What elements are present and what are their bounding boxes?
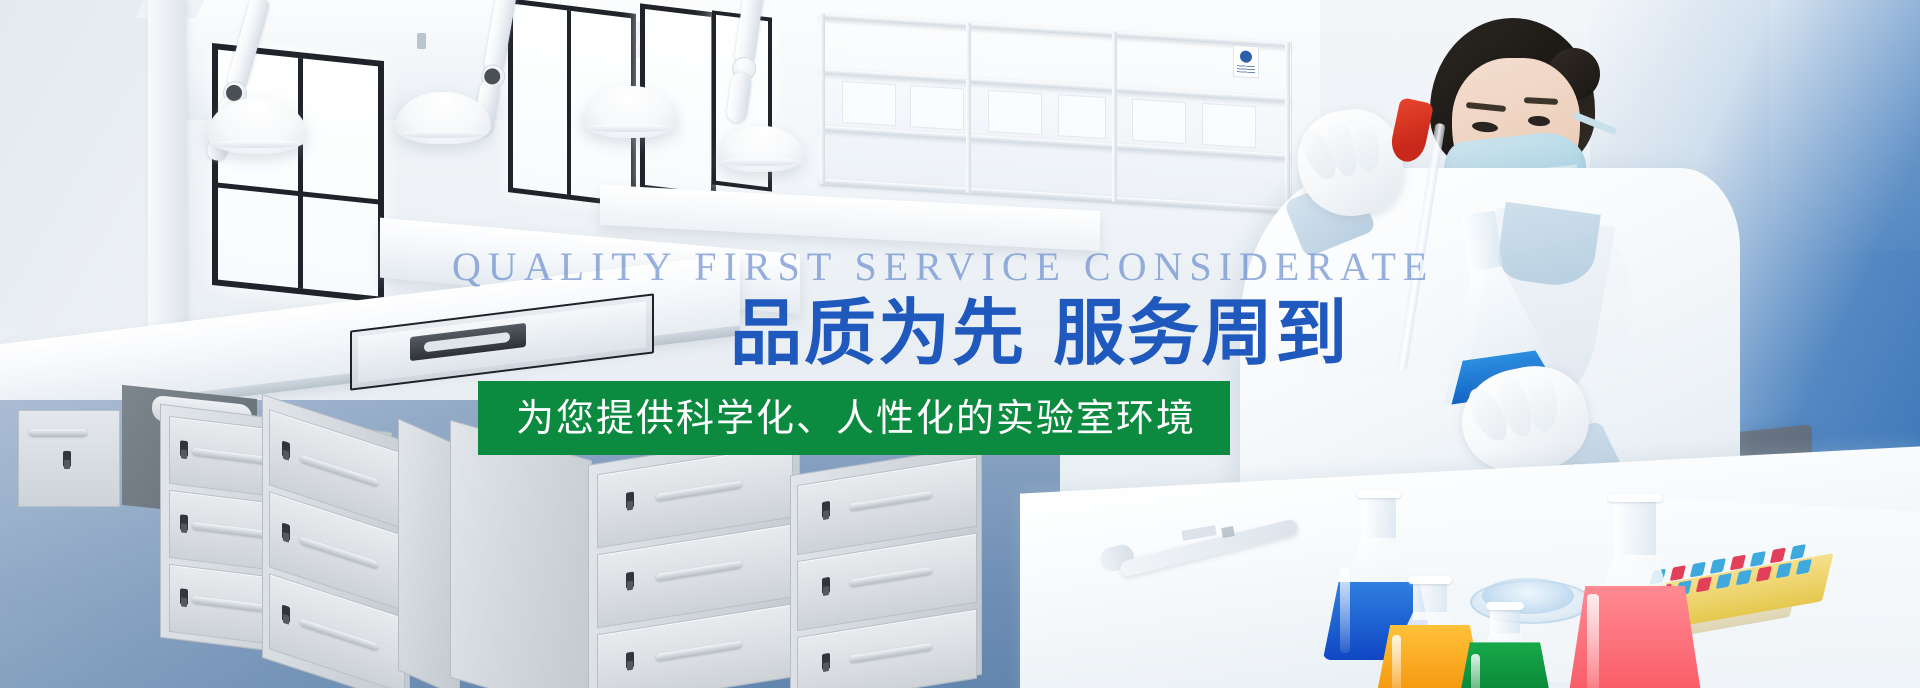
banner-text-overlay: QUALITY FIRST SERVICE CONSIDERATE 品质为先 服… — [0, 0, 1920, 688]
banner-kicker-english: QUALITY FIRST SERVICE CONSIDERATE — [452, 247, 1434, 287]
banner-headline-chinese: 品质为先 服务周到 — [730, 296, 1349, 372]
banner-subtitle-text: 为您提供科学化、人性化的实验室环境 — [516, 399, 1196, 437]
hero-banner: QUALITY FIRST SERVICE CONSIDERATE 品质为先 服… — [0, 0, 1920, 688]
banner-subtitle-bar: 为您提供科学化、人性化的实验室环境 — [478, 381, 1230, 455]
